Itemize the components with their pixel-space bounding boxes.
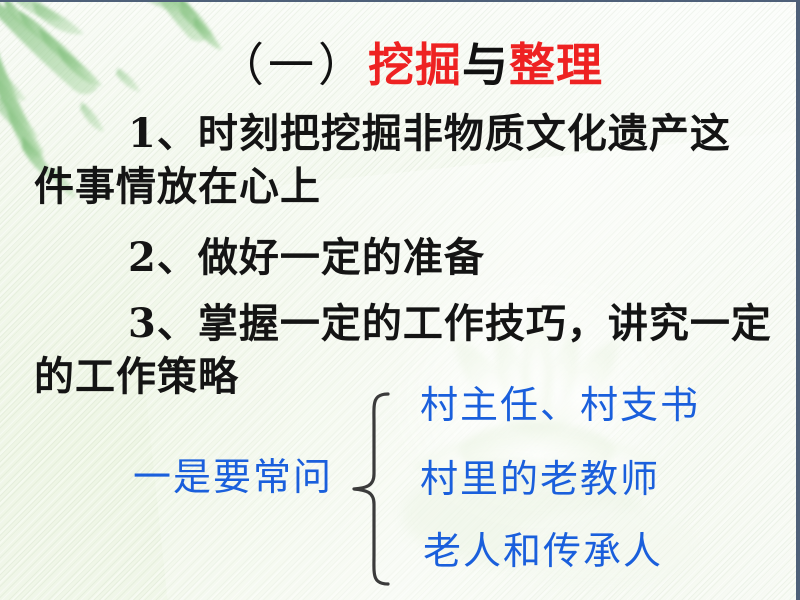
presentation-slide: （一）挖掘与整理 1、时刻把挖掘非物质文化遗产这 件事情放在心上 2、做好一定的… <box>0 0 800 600</box>
body-item-3-line-1: 3、掌握一定的工作技巧，讲究一定 <box>128 304 772 344</box>
body-item-3-line-2: 的工作策略 <box>34 357 239 397</box>
grouping-item-2: 村里的老教师 <box>420 460 660 498</box>
title-section-number: （一） <box>218 38 368 92</box>
title-conjunction: 与 <box>462 38 509 92</box>
body-item-2-line-1: 2、做好一定的准备 <box>128 238 485 278</box>
grouping-label: 一是要常问 <box>133 458 333 496</box>
body-item-1-line-1: 1、时刻把挖掘非物质文化遗产这 <box>128 114 731 154</box>
grouping-item-3: 老人和传承人 <box>423 532 663 570</box>
slide-title: （一）挖掘与整理 <box>218 42 603 88</box>
body-item-1-line-2: 件事情放在心上 <box>34 167 321 207</box>
grouping-item-1: 村主任、村支书 <box>420 386 700 424</box>
title-keyword-organize: 整理 <box>509 38 603 92</box>
title-keyword-excavate: 挖掘 <box>368 38 462 92</box>
